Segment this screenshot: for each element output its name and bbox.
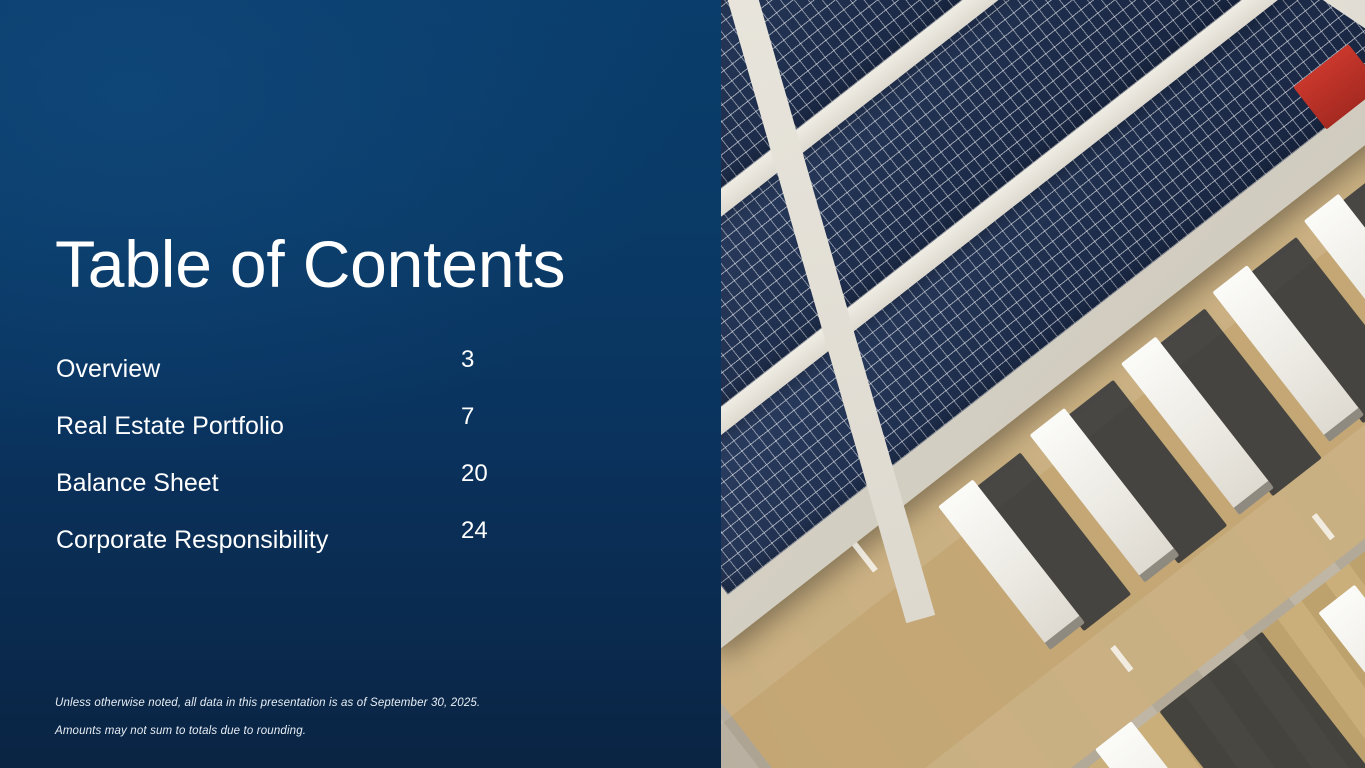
table-of-contents-list: Overview 3 Real Estate Portfolio 7 Balan… bbox=[55, 345, 515, 573]
toc-entry-page-number: 7 bbox=[461, 405, 474, 429]
title-panel: Table of Contents Overview 3 Real Estate… bbox=[0, 0, 721, 768]
toc-entry-page-number: 3 bbox=[461, 348, 474, 372]
photo-scene bbox=[721, 0, 1365, 768]
toc-entry-real-estate-portfolio[interactable]: Real Estate Portfolio 7 bbox=[55, 402, 515, 459]
toc-entry-overview[interactable]: Overview 3 bbox=[55, 345, 515, 402]
aerial-warehouse-photo: W. P. CAREY bbox=[721, 0, 1365, 768]
footnotes: Unless otherwise noted, all data in this… bbox=[55, 698, 655, 737]
footnote-rounding: Amounts may not sum to totals due to rou… bbox=[55, 726, 655, 738]
toc-entry-balance-sheet[interactable]: Balance Sheet 20 bbox=[55, 459, 515, 516]
toc-entry-label: Real Estate Portfolio bbox=[56, 414, 284, 439]
toc-entry-label: Overview bbox=[56, 357, 160, 382]
toc-entry-label: Corporate Responsibility bbox=[56, 528, 328, 553]
toc-entry-page-number: 24 bbox=[461, 519, 488, 543]
toc-entry-page-number: 20 bbox=[461, 462, 488, 486]
toc-entry-label: Balance Sheet bbox=[56, 471, 219, 496]
toc-entry-corporate-responsibility[interactable]: Corporate Responsibility 24 bbox=[55, 516, 515, 573]
footnote-data-as-of: Unless otherwise noted, all data in this… bbox=[55, 698, 655, 710]
presentation-slide: Table of Contents Overview 3 Real Estate… bbox=[0, 0, 1365, 768]
page-title: Table of Contents bbox=[55, 231, 565, 297]
